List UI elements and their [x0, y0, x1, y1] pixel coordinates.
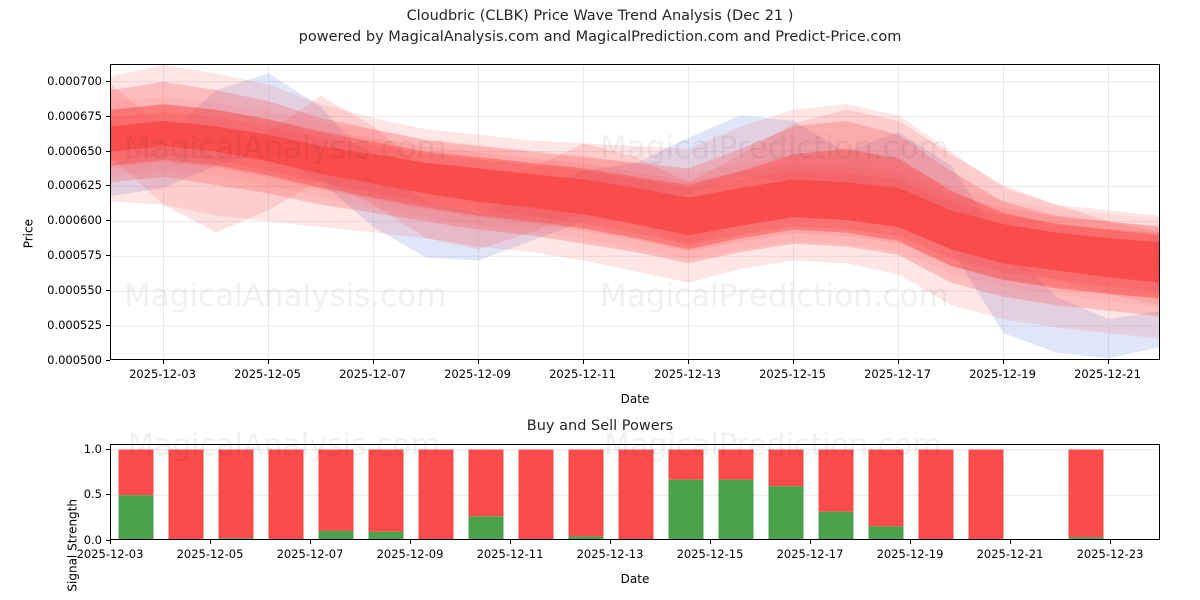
- price-y-tick-mark: [106, 185, 110, 186]
- powers-x-tick-label: 2025-12-05: [177, 547, 244, 561]
- price-y-axis-label: Price: [22, 219, 36, 248]
- price-y-tick-label: 0.000525: [28, 318, 102, 332]
- powers-x-tick-label: 2025-12-03: [77, 547, 144, 561]
- price-y-tick-mark: [106, 255, 110, 256]
- powers-x-tick-mark: [910, 540, 911, 544]
- powers-x-tick-mark: [510, 540, 511, 544]
- price-x-tick-label: 2025-12-15: [759, 367, 826, 381]
- price-y-tick-label: 0.000550: [28, 283, 102, 297]
- price-wave-plot-area: [110, 64, 1160, 360]
- price-y-tick-label: 0.000675: [28, 109, 102, 123]
- price-wave-bands: [111, 65, 1160, 360]
- price-y-tick-label: 0.000650: [28, 144, 102, 158]
- price-x-tick-mark: [793, 360, 794, 364]
- price-x-tick-mark: [688, 360, 689, 364]
- powers-x-tick-mark: [1110, 540, 1111, 544]
- price-y-tick-label: 0.000575: [28, 248, 102, 262]
- powers-x-tick-label: 2025-12-07: [277, 547, 344, 561]
- powers-x-tick-label: 2025-12-19: [877, 547, 944, 561]
- price-y-tick-mark: [106, 81, 110, 82]
- powers-x-tick-mark: [610, 540, 611, 544]
- powers-y-axis-label: Signal Strength: [65, 499, 79, 592]
- price-x-axis-label: Date: [621, 392, 650, 406]
- price-y-tick-label: 0.000700: [28, 74, 102, 88]
- price-x-tick-label: 2025-12-03: [129, 367, 196, 381]
- price-x-tick-mark: [1108, 360, 1109, 364]
- powers-x-tick-mark: [110, 540, 111, 544]
- powers-x-tick-mark: [1010, 540, 1011, 544]
- chart-canvas: Cloudbric (CLBK) Price Wave Trend Analys…: [0, 0, 1200, 600]
- price-y-tick-label: 0.000625: [28, 178, 102, 192]
- price-x-tick-mark: [163, 360, 164, 364]
- powers-x-tick-mark: [210, 540, 211, 544]
- price-x-tick-mark: [478, 360, 479, 364]
- price-x-tick-label: 2025-12-07: [339, 367, 406, 381]
- price-y-tick-mark: [106, 290, 110, 291]
- powers-x-tick-label: 2025-12-21: [977, 547, 1044, 561]
- price-y-tick-mark: [106, 360, 110, 361]
- powers-x-tick-label: 2025-12-17: [777, 547, 844, 561]
- price-x-tick-mark: [1003, 360, 1004, 364]
- powers-x-tick-mark: [410, 540, 411, 544]
- powers-x-axis-label: Date: [621, 572, 650, 586]
- powers-title: Buy and Sell Powers: [0, 418, 1200, 434]
- price-x-tick-mark: [898, 360, 899, 364]
- page-title: Cloudbric (CLBK) Price Wave Trend Analys…: [0, 6, 1200, 27]
- powers-y-tick-mark: [106, 449, 110, 450]
- powers-x-tick-mark: [710, 540, 711, 544]
- price-x-tick-label: 2025-12-17: [864, 367, 931, 381]
- page-subtitle: powered by MagicalAnalysis.com and Magic…: [0, 27, 1200, 48]
- title-block: Cloudbric (CLBK) Price Wave Trend Analys…: [0, 6, 1200, 48]
- price-y-tick-label: 0.000600: [28, 213, 102, 227]
- powers-x-tick-mark: [810, 540, 811, 544]
- price-x-tick-label: 2025-12-13: [654, 367, 721, 381]
- powers-x-tick-label: 2025-12-23: [1077, 547, 1144, 561]
- buy-sell-powers-plot-area: [110, 444, 1160, 540]
- price-x-tick-mark: [583, 360, 584, 364]
- price-x-tick-mark: [373, 360, 374, 364]
- price-x-tick-label: 2025-12-05: [234, 367, 301, 381]
- powers-x-tick-label: 2025-12-09: [377, 547, 444, 561]
- price-y-tick-mark: [106, 325, 110, 326]
- powers-y-tick-mark: [106, 494, 110, 495]
- buy-sell-bars: [111, 445, 1160, 540]
- price-y-tick-label: 0.000500: [28, 353, 102, 367]
- price-x-tick-label: 2025-12-09: [444, 367, 511, 381]
- powers-x-tick-label: 2025-12-15: [677, 547, 744, 561]
- price-x-tick-label: 2025-12-11: [549, 367, 616, 381]
- price-x-tick-label: 2025-12-19: [969, 367, 1036, 381]
- powers-y-tick-label: 1.0: [60, 442, 102, 456]
- powers-x-tick-label: 2025-12-11: [477, 547, 544, 561]
- price-x-tick-mark: [268, 360, 269, 364]
- price-y-tick-mark: [106, 116, 110, 117]
- price-y-tick-mark: [106, 220, 110, 221]
- price-x-tick-label: 2025-12-21: [1074, 367, 1141, 381]
- powers-x-tick-mark: [310, 540, 311, 544]
- powers-x-tick-label: 2025-12-13: [577, 547, 644, 561]
- price-y-tick-mark: [106, 151, 110, 152]
